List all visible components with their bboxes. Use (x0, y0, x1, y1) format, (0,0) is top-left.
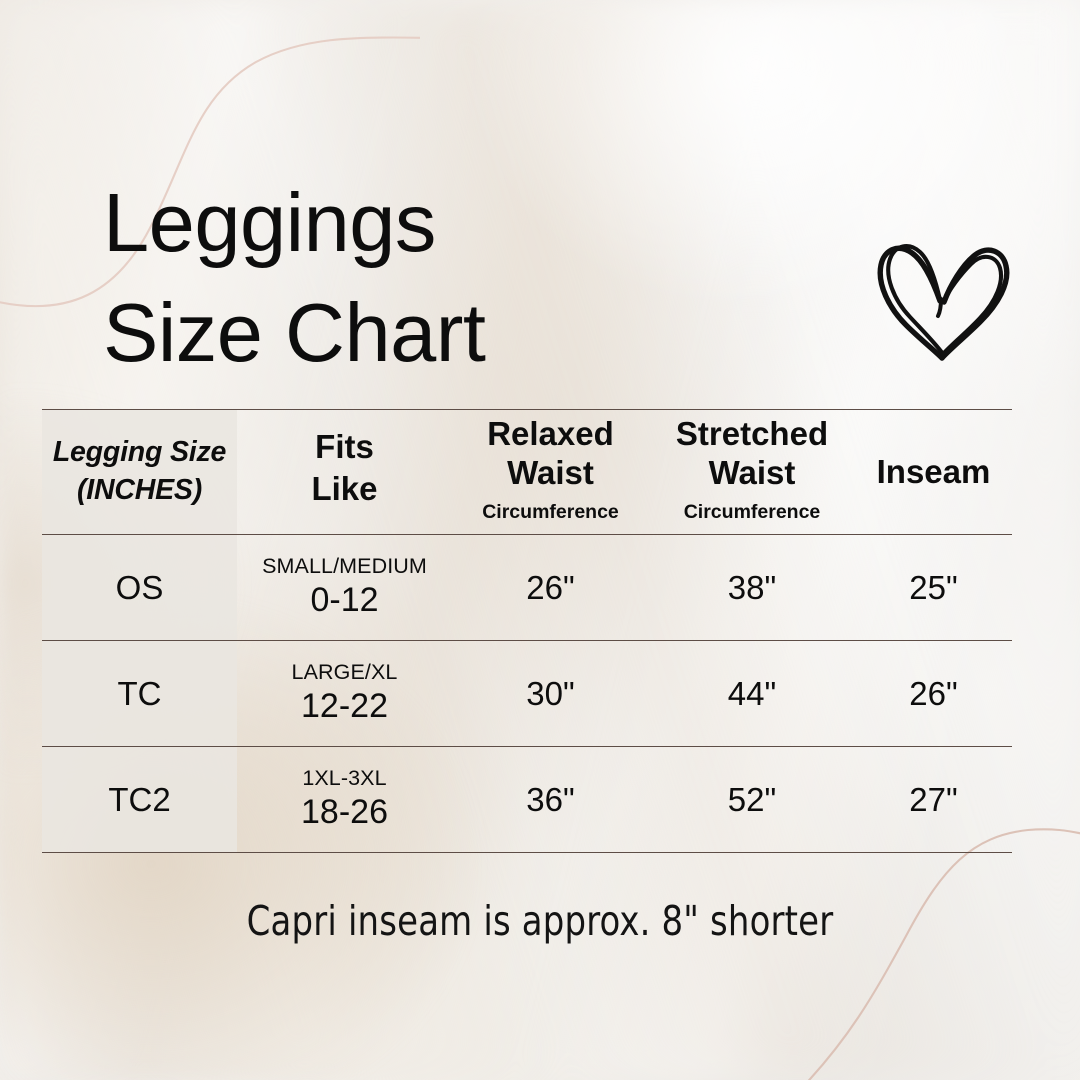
cell-stretched-waist: 44" (649, 641, 855, 747)
value-inseam: 25" (909, 569, 957, 606)
header-cell-legging-size: Legging Size (INCHES) (42, 410, 237, 535)
value-size: TC (118, 675, 162, 712)
value-fits-like-label: LARGE/XL (237, 661, 452, 685)
cell-inseam: 27" (855, 747, 1012, 853)
value-fits-like-range: 18-26 (237, 792, 452, 832)
cell-fits-like: SMALL/MEDIUM 0-12 (237, 535, 452, 641)
cell-stretched-waist: 38" (649, 535, 855, 641)
value-stretched-waist: 52" (728, 781, 776, 818)
table-header-row: Legging Size (INCHES) Fits Like Relaxed … (42, 410, 1012, 535)
value-size: OS (116, 569, 164, 606)
capri-inseam-note: Capri inseam is approx. 8" shorter (43, 897, 1037, 945)
value-inseam: 27" (909, 781, 957, 818)
header-cell-fits-like: Fits Like (237, 410, 452, 535)
table-row: TC LARGE/XL 12-22 30" 44" 26" (42, 641, 1012, 747)
cell-size: TC2 (42, 747, 237, 853)
value-fits-like-label: SMALL/MEDIUM (237, 555, 452, 579)
header-label-inseam: Inseam (877, 453, 991, 490)
page-title: Leggings Size Chart (103, 168, 803, 387)
header-cell-relaxed-waist: Relaxed Waist Circumference (452, 410, 649, 535)
header-sublabel-relaxed-waist: Circumference (452, 502, 649, 523)
cell-fits-like: 1XL-3XL 18-26 (237, 747, 452, 853)
cell-relaxed-waist: 30" (452, 641, 649, 747)
header-label-fits-like: Fits Like (311, 428, 377, 507)
header-cell-inseam: Inseam (855, 410, 1012, 535)
cell-size: OS (42, 535, 237, 641)
cell-relaxed-waist: 36" (452, 747, 649, 853)
value-fits-like-range: 12-22 (237, 686, 452, 726)
size-chart-table-wrapper: Legging Size (INCHES) Fits Like Relaxed … (42, 409, 1012, 853)
value-relaxed-waist: 30" (526, 675, 574, 712)
header-cell-stretched-waist: Stretched Waist Circumference (649, 410, 855, 535)
cell-inseam: 25" (855, 535, 1012, 641)
cell-fits-like: LARGE/XL 12-22 (237, 641, 452, 747)
heart-doodle-icon (868, 228, 1018, 364)
value-stretched-waist: 38" (728, 569, 776, 606)
size-chart-canvas: Leggings Size Chart Legging Size (INCHES… (0, 0, 1080, 1080)
cell-stretched-waist: 52" (649, 747, 855, 853)
cell-inseam: 26" (855, 641, 1012, 747)
header-label-relaxed-waist: Relaxed Waist (487, 415, 614, 491)
cell-relaxed-waist: 26" (452, 535, 649, 641)
value-relaxed-waist: 36" (526, 781, 574, 818)
table-row: OS SMALL/MEDIUM 0-12 26" 38" 25" (42, 535, 1012, 641)
value-relaxed-waist: 26" (526, 569, 574, 606)
value-fits-like-range: 0-12 (237, 580, 452, 620)
value-inseam: 26" (909, 675, 957, 712)
cell-size: TC (42, 641, 237, 747)
header-sublabel-stretched-waist: Circumference (649, 502, 855, 523)
size-chart-table: Legging Size (INCHES) Fits Like Relaxed … (42, 409, 1012, 853)
header-label-stretched-waist: Stretched Waist (676, 415, 828, 491)
table-row: TC2 1XL-3XL 18-26 36" 52" 27" (42, 747, 1012, 853)
value-size: TC2 (108, 781, 170, 818)
value-fits-like-label: 1XL-3XL (237, 767, 452, 791)
header-label-legging-size: Legging Size (INCHES) (53, 436, 226, 506)
value-stretched-waist: 44" (728, 675, 776, 712)
